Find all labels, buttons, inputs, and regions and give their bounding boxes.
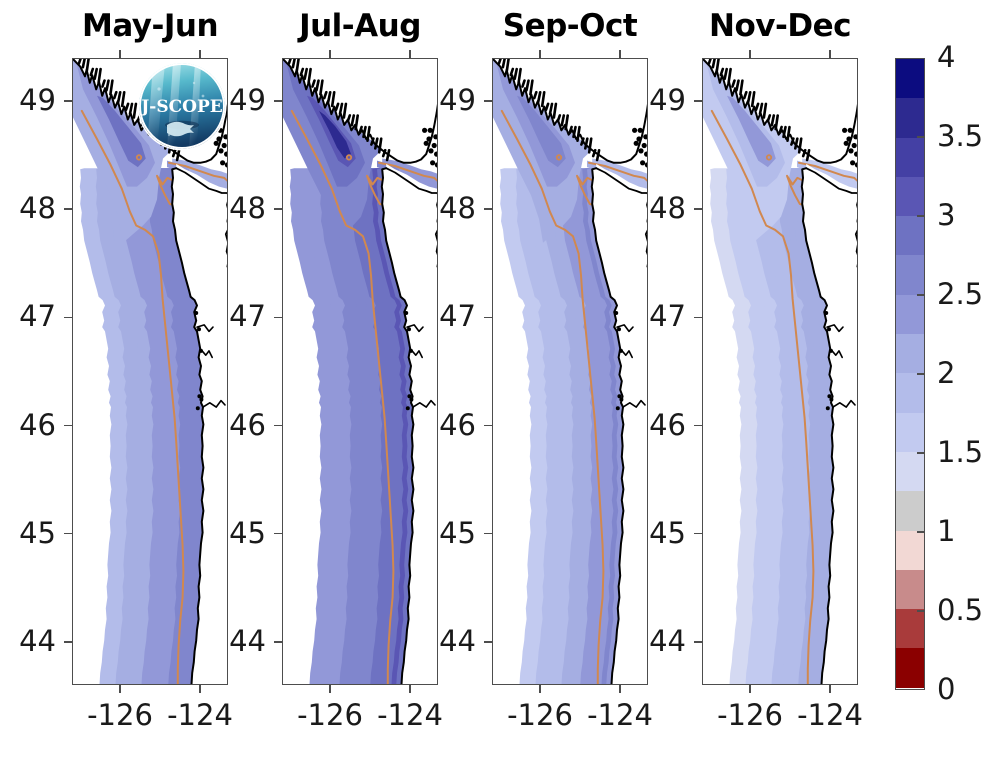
ytick-mark [484, 533, 492, 535]
colorbar-tick-mark [917, 136, 925, 138]
colorbar-label-0: 0 [937, 675, 955, 704]
xtick-label-nov-dec-1: -124 [774, 701, 886, 730]
colorbar-label-3: 3 [937, 201, 955, 230]
xtick-mark-top [199, 50, 201, 58]
panel-title-sep-oct: Sep-Oct [492, 8, 648, 44]
colorbar-tick-mark [917, 373, 925, 375]
ytick-mark [694, 208, 702, 210]
colorbar-tick-mark [917, 452, 925, 454]
colorbar-tick-mark [917, 294, 925, 296]
ytick-mark [694, 641, 702, 643]
ytick-mark [64, 425, 72, 427]
xtick-mark-top [619, 50, 621, 58]
ytick-label-may-jun-1: 48 [0, 194, 56, 223]
xtick-mark [119, 685, 121, 693]
ytick-mark [64, 100, 72, 102]
colorbar-label-3.5: 3.5 [937, 122, 983, 151]
colorbar-band-1.5-1.75 [896, 413, 924, 452]
ytick-mark [274, 208, 282, 210]
colorbar-band-1-1.25 [896, 491, 924, 530]
xtick-mark [199, 685, 201, 693]
colorbar-band-0-0.25 [896, 648, 924, 687]
colorbar-band-3.25-3.5 [896, 138, 924, 177]
ytick-label-nov-dec-0: 49 [624, 86, 686, 115]
ytick-label-may-jun-0: 49 [0, 86, 56, 115]
colorbar-band-3.5-3.75 [896, 98, 924, 137]
ytick-label-may-jun-5: 44 [0, 627, 56, 656]
colorbar-tick-mark [917, 610, 925, 612]
xtick-label-may-jun-1: -124 [144, 701, 256, 730]
ytick-mark [484, 208, 492, 210]
colorbar-band-3.75-4 [896, 59, 924, 98]
map-axes-sep-oct[interactable] [492, 58, 648, 685]
ytick-mark [274, 641, 282, 643]
colorbar-label-1: 1 [937, 517, 955, 546]
colorbar-label-0.5: 0.5 [937, 596, 983, 625]
xtick-mark [329, 685, 331, 693]
ytick-mark [484, 317, 492, 319]
ytick-label-may-jun-2: 47 [0, 302, 56, 331]
ytick-mark [694, 425, 702, 427]
ytick-label-sep-oct-2: 47 [414, 302, 476, 331]
xtick-mark-top [409, 50, 411, 58]
colorbar-label-4: 4 [937, 43, 955, 72]
ytick-label-jul-aug-5: 44 [204, 627, 266, 656]
map-render [703, 59, 858, 685]
svg-text:J-SCOPE: J-SCOPE [139, 97, 222, 117]
xtick-mark-top [539, 50, 541, 58]
colorbar-band-0.75-1 [896, 531, 924, 570]
colorbar-label-2.5: 2.5 [937, 280, 983, 309]
xtick-mark [829, 685, 831, 693]
xtick-mark [409, 685, 411, 693]
ytick-mark [274, 317, 282, 319]
colorbar-tick-mark [917, 531, 925, 533]
panel-title-nov-dec: Nov-Dec [702, 8, 858, 44]
colorbar-band-1.75-2 [896, 373, 924, 412]
map-render [493, 59, 648, 685]
map-render [73, 59, 228, 685]
ytick-label-jul-aug-4: 45 [204, 519, 266, 548]
ytick-mark [64, 208, 72, 210]
xtick-label-jul-aug-1: -124 [354, 701, 466, 730]
xtick-mark-top [829, 50, 831, 58]
ytick-mark [64, 641, 72, 643]
ytick-label-jul-aug-2: 47 [204, 302, 266, 331]
ytick-label-sep-oct-4: 45 [414, 519, 476, 548]
xtick-mark-top [119, 50, 121, 58]
ytick-mark [484, 641, 492, 643]
figure-canvas: May-Jun Jul-Aug Sep-Oct Nov-Dec 49484746… [0, 0, 1000, 759]
ytick-mark [64, 317, 72, 319]
ytick-mark [694, 317, 702, 319]
colorbar-label-2: 2 [937, 359, 955, 388]
ytick-mark [274, 425, 282, 427]
map-axes-nov-dec[interactable] [702, 58, 858, 685]
ytick-mark [484, 100, 492, 102]
colorbar-band-2-2.25 [896, 334, 924, 373]
map-axes-jul-aug[interactable] [282, 58, 438, 685]
ytick-mark [694, 100, 702, 102]
jscope-logo: J-SCOPE [139, 63, 225, 149]
colorbar-band-1.25-1.5 [896, 452, 924, 491]
colorbar-band-2.25-2.5 [896, 295, 924, 334]
xtick-mark [619, 685, 621, 693]
ytick-label-jul-aug-3: 46 [204, 411, 266, 440]
colorbar-band-0.25-0.5 [896, 609, 924, 648]
ytick-label-nov-dec-1: 48 [624, 194, 686, 223]
xtick-mark-top [329, 50, 331, 58]
ytick-mark [274, 533, 282, 535]
ytick-label-sep-oct-0: 49 [414, 86, 476, 115]
colorbar-band-2.5-2.75 [896, 255, 924, 294]
xtick-mark [539, 685, 541, 693]
map-axes-may-jun[interactable] [72, 58, 228, 685]
ytick-label-jul-aug-1: 48 [204, 194, 266, 223]
ytick-label-may-jun-4: 45 [0, 519, 56, 548]
colorbar-band-0.5-0.75 [896, 570, 924, 609]
ytick-mark [694, 533, 702, 535]
ytick-mark [64, 533, 72, 535]
panel-title-may-jun: May-Jun [72, 8, 228, 44]
ytick-label-nov-dec-3: 46 [624, 411, 686, 440]
xtick-mark-top [749, 50, 751, 58]
colorbar-tick-mark [917, 215, 925, 217]
panel-title-jul-aug: Jul-Aug [282, 8, 438, 44]
ytick-label-sep-oct-5: 44 [414, 627, 476, 656]
ytick-label-nov-dec-2: 47 [624, 302, 686, 331]
ytick-mark [484, 425, 492, 427]
ytick-label-may-jun-3: 46 [0, 411, 56, 440]
colorbar-label-1.5: 1.5 [937, 438, 983, 467]
xtick-label-sep-oct-1: -124 [564, 701, 676, 730]
colorbar-band-3-3.25 [896, 177, 924, 216]
ytick-label-nov-dec-5: 44 [624, 627, 686, 656]
ytick-label-sep-oct-1: 48 [414, 194, 476, 223]
map-render [283, 59, 438, 685]
ytick-label-sep-oct-3: 46 [414, 411, 476, 440]
ytick-label-nov-dec-4: 45 [624, 519, 686, 548]
ytick-mark [274, 100, 282, 102]
colorbar-band-2.75-3 [896, 216, 924, 255]
xtick-mark [749, 685, 751, 693]
